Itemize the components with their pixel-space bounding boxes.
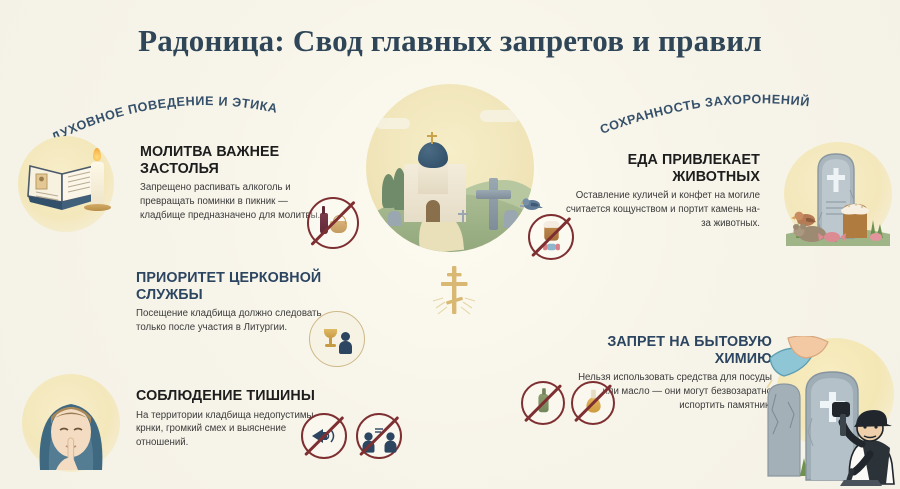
ban-icon-no-loud-sound xyxy=(301,413,347,459)
illustration-chalice-praying-person xyxy=(309,311,365,367)
illustration-grave-with-animals-and-food xyxy=(784,142,892,246)
person-icon xyxy=(386,432,394,440)
bird-icon xyxy=(521,197,539,209)
left-item-1-heading: МОЛИТВА ВАЖНЕЕ ЗАСТОЛЬЯ xyxy=(140,144,326,177)
left-item-1-body: Запрещено распивать алкоголь и превращат… xyxy=(140,181,326,222)
ban-icon-no-oil xyxy=(571,381,615,425)
left-item-3-body: На территории кладбища недопустимы крнки… xyxy=(136,409,326,450)
onion-dome-icon xyxy=(418,142,448,168)
wine-bottle-icon xyxy=(320,213,328,234)
section-header-right: СОХРАННОСТЬ ЗАХОРОНЕНИЙ xyxy=(598,88,878,148)
praying-person-icon xyxy=(341,332,350,341)
illustration-woman-silence xyxy=(22,374,120,472)
ban-icon-no-food-on-grave xyxy=(528,214,574,260)
picnic-basket-icon xyxy=(330,221,347,233)
center-illustration-church-cemetery xyxy=(366,84,534,252)
person-icon xyxy=(364,432,372,440)
ban-icon-no-alcohol-and-picnic xyxy=(307,197,359,249)
left-item-1: МОЛИТВА ВАЖНЕЕ ЗАСТОЛЬЯ Запрещено распив… xyxy=(140,144,326,222)
section-header-right-label: СОХРАННОСТЬ ЗАХОРОНЕНИЙ xyxy=(598,92,811,137)
flame-icon xyxy=(93,148,101,161)
ban-icon-no-detergent xyxy=(521,381,565,425)
cloud-icon xyxy=(376,118,410,129)
gravestone-icon xyxy=(504,210,518,228)
dome-cross-icon xyxy=(431,132,433,144)
left-item-3: СОБЛЮДЕНИЕ ТИШИНЫ На территории кладбища… xyxy=(136,388,326,450)
orthodox-eight-pointed-cross-icon xyxy=(430,262,478,318)
infographic-canvas: Радоница: Свод главных запретов и правил… xyxy=(0,0,900,489)
left-item-3-heading: СОБЛЮДЕНИЕ ТИШИНЫ xyxy=(136,388,326,405)
stone-cross-icon xyxy=(489,178,498,230)
candle-holder xyxy=(84,204,111,211)
church-door xyxy=(426,200,440,222)
ban-icon-no-arguing xyxy=(356,413,402,459)
page-title: Радоница: Свод главных запретов и правил xyxy=(0,23,900,59)
cloud-icon xyxy=(480,110,520,122)
right-item-1-body: Оставление куличей и конфет на могиле сч… xyxy=(560,189,760,230)
oil-flask-icon xyxy=(586,397,600,412)
svg-text:СОХРАННОСТЬ ЗАХОРОНЕНИЙ: СОХРАННОСТЬ ЗАХОРОНЕНИЙ xyxy=(598,92,811,137)
kulich-icon xyxy=(544,224,558,240)
church-tower xyxy=(418,164,448,194)
speaker-icon xyxy=(312,429,323,443)
illustration-prayer-book-candle xyxy=(18,136,114,232)
gravestone-cleaning-scene xyxy=(766,336,900,486)
left-item-2-body: Посещение кладбища должно следовать толь… xyxy=(136,307,328,335)
small-cross-icon xyxy=(462,210,464,222)
gravestone-icon xyxy=(388,211,401,226)
right-item-2-heading: ЗАПРЕТ НА БЫТОВУЮ ХИМИЮ xyxy=(562,334,772,367)
section-header-left: ДУХОВНОЕ ПОВЕДЕНИЕ И ЭТИКА xyxy=(46,84,346,144)
right-item-1: ЕДА ПРИВЛЕКАЕТ ЖИВОТНЫХ Оставление кулич… xyxy=(560,152,760,230)
right-item-1-heading: ЕДА ПРИВЛЕКАЕТ ЖИВОТНЫХ xyxy=(560,152,760,185)
candy-icon xyxy=(546,244,556,250)
candle-icon xyxy=(91,162,104,206)
detergent-bottle-icon xyxy=(538,394,548,412)
left-item-2-heading: ПРИОРИТЕТ ЦЕРКОВНОЙ СЛУЖБЫ xyxy=(136,270,328,303)
chalice-icon xyxy=(324,329,337,349)
left-item-2: ПРИОРИТЕТ ЦЕРКОВНОЙ СЛУЖБЫ Посещение кла… xyxy=(136,270,328,335)
